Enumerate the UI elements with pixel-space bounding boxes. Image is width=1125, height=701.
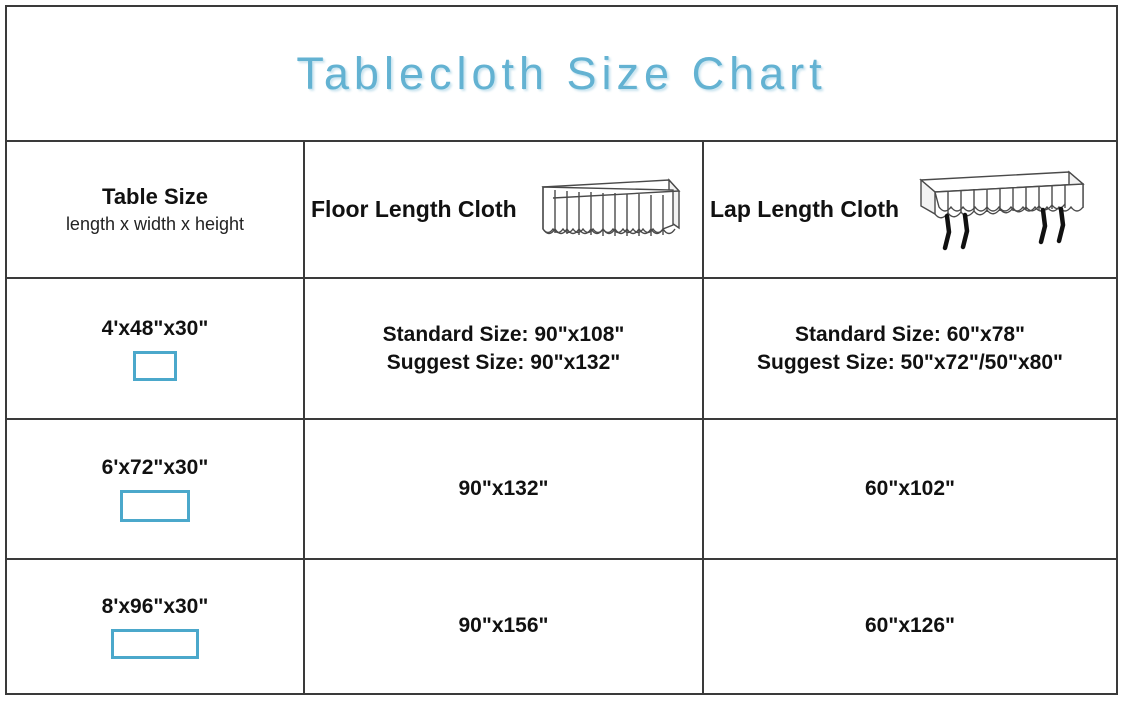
cell-floor-length: Standard Size: 90"x108" Suggest Size: 90… [304,278,703,419]
header-table-size-sublabel: length x width x height [7,213,303,236]
cell-table-size: 8'x96"x30" [7,559,304,693]
page-title: Tablecloth Size Chart [7,51,1116,96]
floor-size-value: 90"x156" [305,612,702,640]
cell-floor-length: 90"x132" [304,419,703,559]
table-size-value: 4'x48"x30" [102,317,209,341]
title-row: Tablecloth Size Chart [7,7,1116,141]
tablecloth-size-chart: Tablecloth Size Chart Table Size length … [5,5,1118,695]
lap-size-value: 60"x102" [704,475,1116,503]
cell-lap-length: Standard Size: 60"x78" Suggest Size: 50"… [703,278,1116,419]
lap-size-value: 60"x126" [704,612,1116,640]
table-size-value: 6'x72"x30" [102,456,209,480]
floor-size-value: 90"x132" [305,475,702,503]
cell-floor-length: 90"x156" [304,559,703,693]
header-table-size-label: Table Size [7,183,303,211]
table-row: 4'x48"x30" Standard Size: 90"x108" Sugge… [7,278,1116,419]
size-table: Tablecloth Size Chart Table Size length … [7,7,1116,693]
cell-table-size: 6'x72"x30" [7,419,304,559]
header-cell-table-size: Table Size length x width x height [7,141,304,278]
table-size-value: 8'x96"x30" [102,595,209,619]
floor-standard-size: Standard Size: 90"x108" [305,321,702,348]
table-shape-icon [111,629,199,659]
lap-length-table-icon [903,162,1088,258]
header-lap-length-label: Lap Length Cloth [710,196,899,223]
header-row: Table Size length x width x height Floor… [7,141,1116,278]
header-cell-lap-length: Lap Length Cloth [703,141,1116,278]
table-row: 6'x72"x30" 90"x132" 60"x102" [7,419,1116,559]
title-cell: Tablecloth Size Chart [7,7,1116,141]
header-cell-floor-length: Floor Length Cloth [304,141,703,278]
floor-suggest-size: Suggest Size: 90"x132" [305,349,702,376]
table-shape-icon [133,351,177,381]
cell-table-size: 4'x48"x30" [7,278,304,419]
cell-lap-length: 60"x102" [703,419,1116,559]
floor-length-table-icon [521,171,681,249]
lap-standard-size: Standard Size: 60"x78" [704,321,1116,348]
lap-suggest-size: Suggest Size: 50"x72"/50"x80" [704,349,1116,376]
cell-lap-length: 60"x126" [703,559,1116,693]
table-shape-icon [120,490,190,522]
table-row: 8'x96"x30" 90"x156" 60"x126" [7,559,1116,693]
header-floor-length-label: Floor Length Cloth [311,196,517,223]
